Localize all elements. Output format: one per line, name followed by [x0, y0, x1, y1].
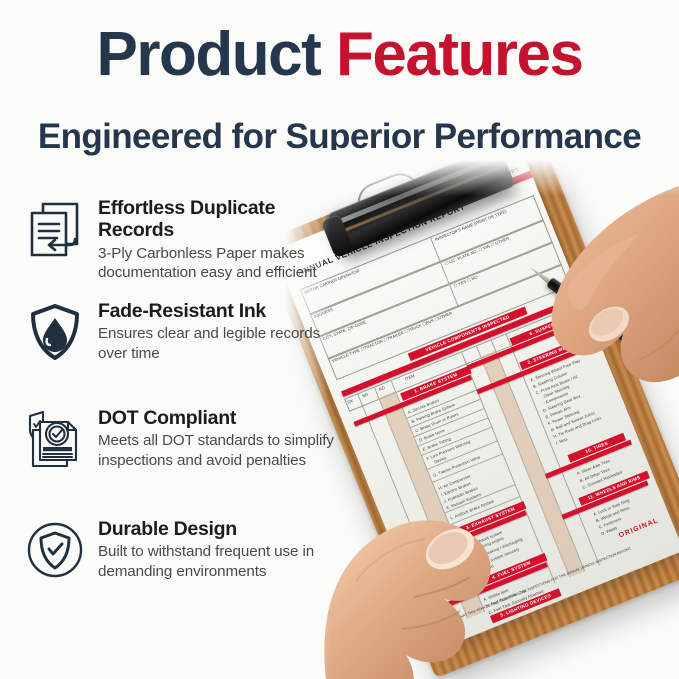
- feature-description-line-2: demanding environments: [98, 562, 342, 581]
- feature-list: Effortless Duplicate Records 3-Ply Carbo…: [22, 196, 342, 624]
- feature-description-line-2: over time: [98, 344, 342, 363]
- feature-heading: Fade-Resistant Ink: [98, 300, 342, 322]
- feature-description-line-1: Built to withstand frequent use in: [98, 542, 342, 561]
- page-title: Product Features: [0, 24, 679, 86]
- feature-item-dot-compliant: DOT Compliant Meets all DOT standards to…: [22, 406, 342, 506]
- feature-description-line-2: documentation easy and efficient: [98, 263, 342, 282]
- feature-description-line-1: Ensures clear and legible records: [98, 324, 342, 343]
- infographic-canvas: BUCK U. VEHICLE INSPECTION REPORT ANNUAL…: [0, 0, 679, 679]
- hand-holding-pen: [489, 184, 679, 414]
- shield-check-circle-icon: [24, 519, 86, 581]
- feature-text-block: Durable Design Built to withstand freque…: [98, 517, 342, 581]
- feature-heading: DOT Compliant: [98, 407, 342, 429]
- page-title-product: Product: [97, 20, 321, 89]
- form-copy-marker: ORIGINAL: [618, 517, 660, 539]
- document-shield-check-icon: [24, 408, 86, 470]
- page-title-features: Features: [336, 20, 582, 89]
- feature-item-durable-design: Durable Design Built to withstand freque…: [22, 517, 342, 613]
- feature-description-line-1: Meets all DOT standards to simplify: [98, 431, 342, 450]
- feature-text-block: DOT Compliant Meets all DOT standards to…: [98, 406, 342, 470]
- feature-description-line-1: 3-Ply Carbonless Paper makes: [98, 244, 342, 263]
- feature-text-block: Fade-Resistant Ink Ensures clear and leg…: [98, 299, 342, 363]
- feature-heading: Durable Design: [98, 518, 342, 540]
- feature-text-block: Effortless Duplicate Records 3-Ply Carbo…: [98, 196, 342, 283]
- feature-item-fade-resistant-ink: Fade-Resistant Ink Ensures clear and leg…: [22, 299, 342, 395]
- duplicate-documents-icon: [24, 198, 86, 260]
- shield-ink-drop-icon: [24, 301, 86, 363]
- feature-item-effortless-duplicate-records: Effortless Duplicate Records 3-Ply Carbo…: [22, 196, 342, 288]
- feature-heading: Effortless Duplicate Records: [98, 197, 342, 242]
- feature-description-line-2: inspections and avoid penalties: [98, 451, 342, 470]
